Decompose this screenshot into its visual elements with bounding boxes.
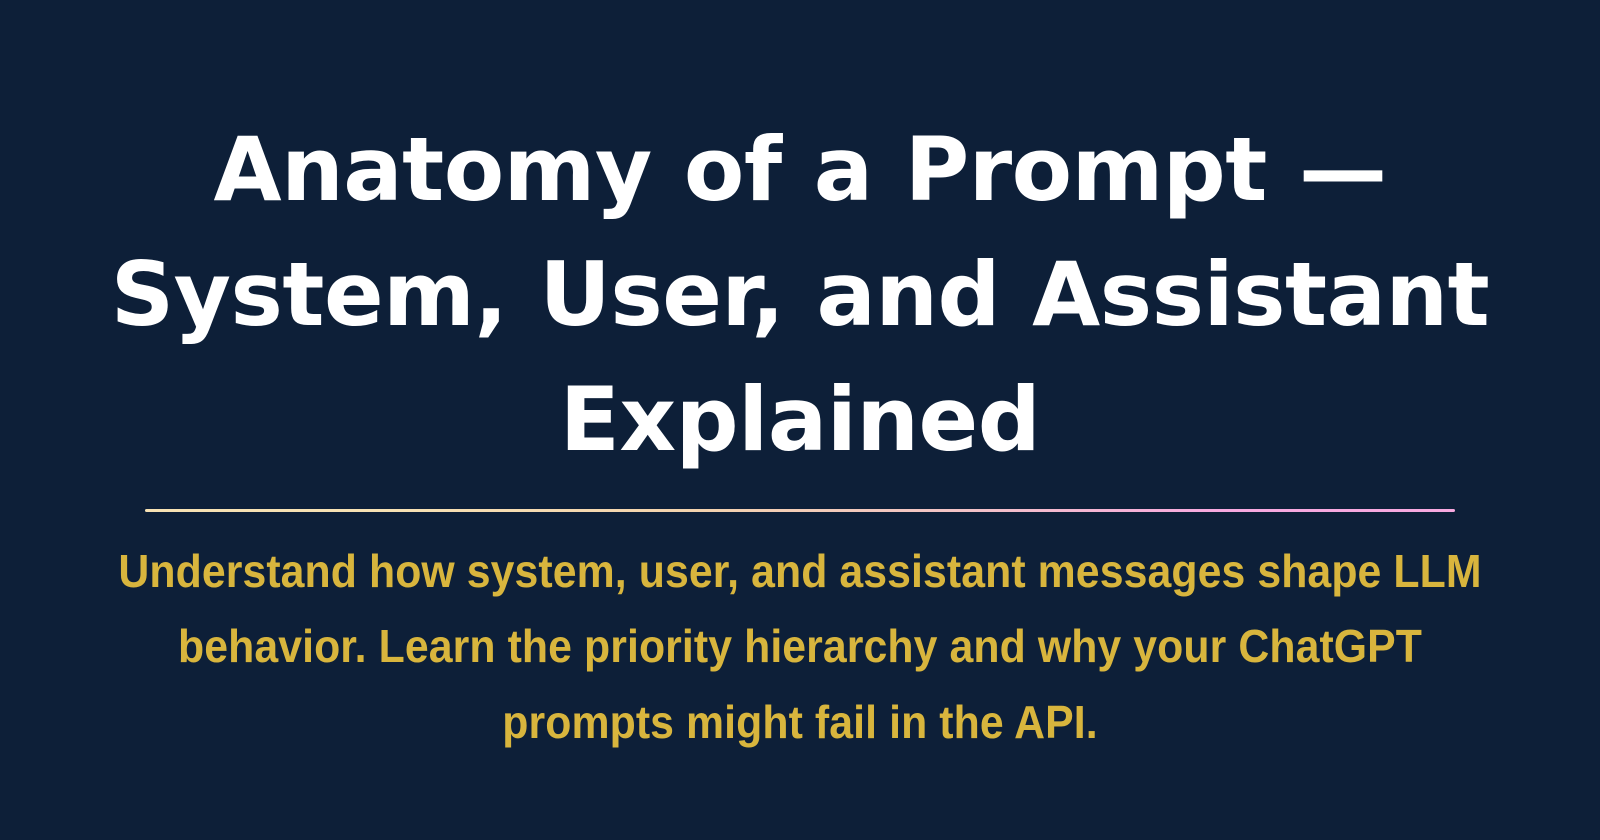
gradient-divider	[145, 509, 1455, 512]
page-subtitle: Understand how system, user, and assista…	[98, 534, 1502, 760]
page-title: Anatomy of a Prompt — System, User, and …	[60, 108, 1540, 483]
title-block: Anatomy of a Prompt — System, User, and …	[60, 108, 1540, 483]
subtitle-block: Understand how system, user, and assista…	[45, 534, 1555, 760]
title-slide: Anatomy of a Prompt — System, User, and …	[0, 0, 1600, 840]
divider-container	[145, 509, 1455, 512]
